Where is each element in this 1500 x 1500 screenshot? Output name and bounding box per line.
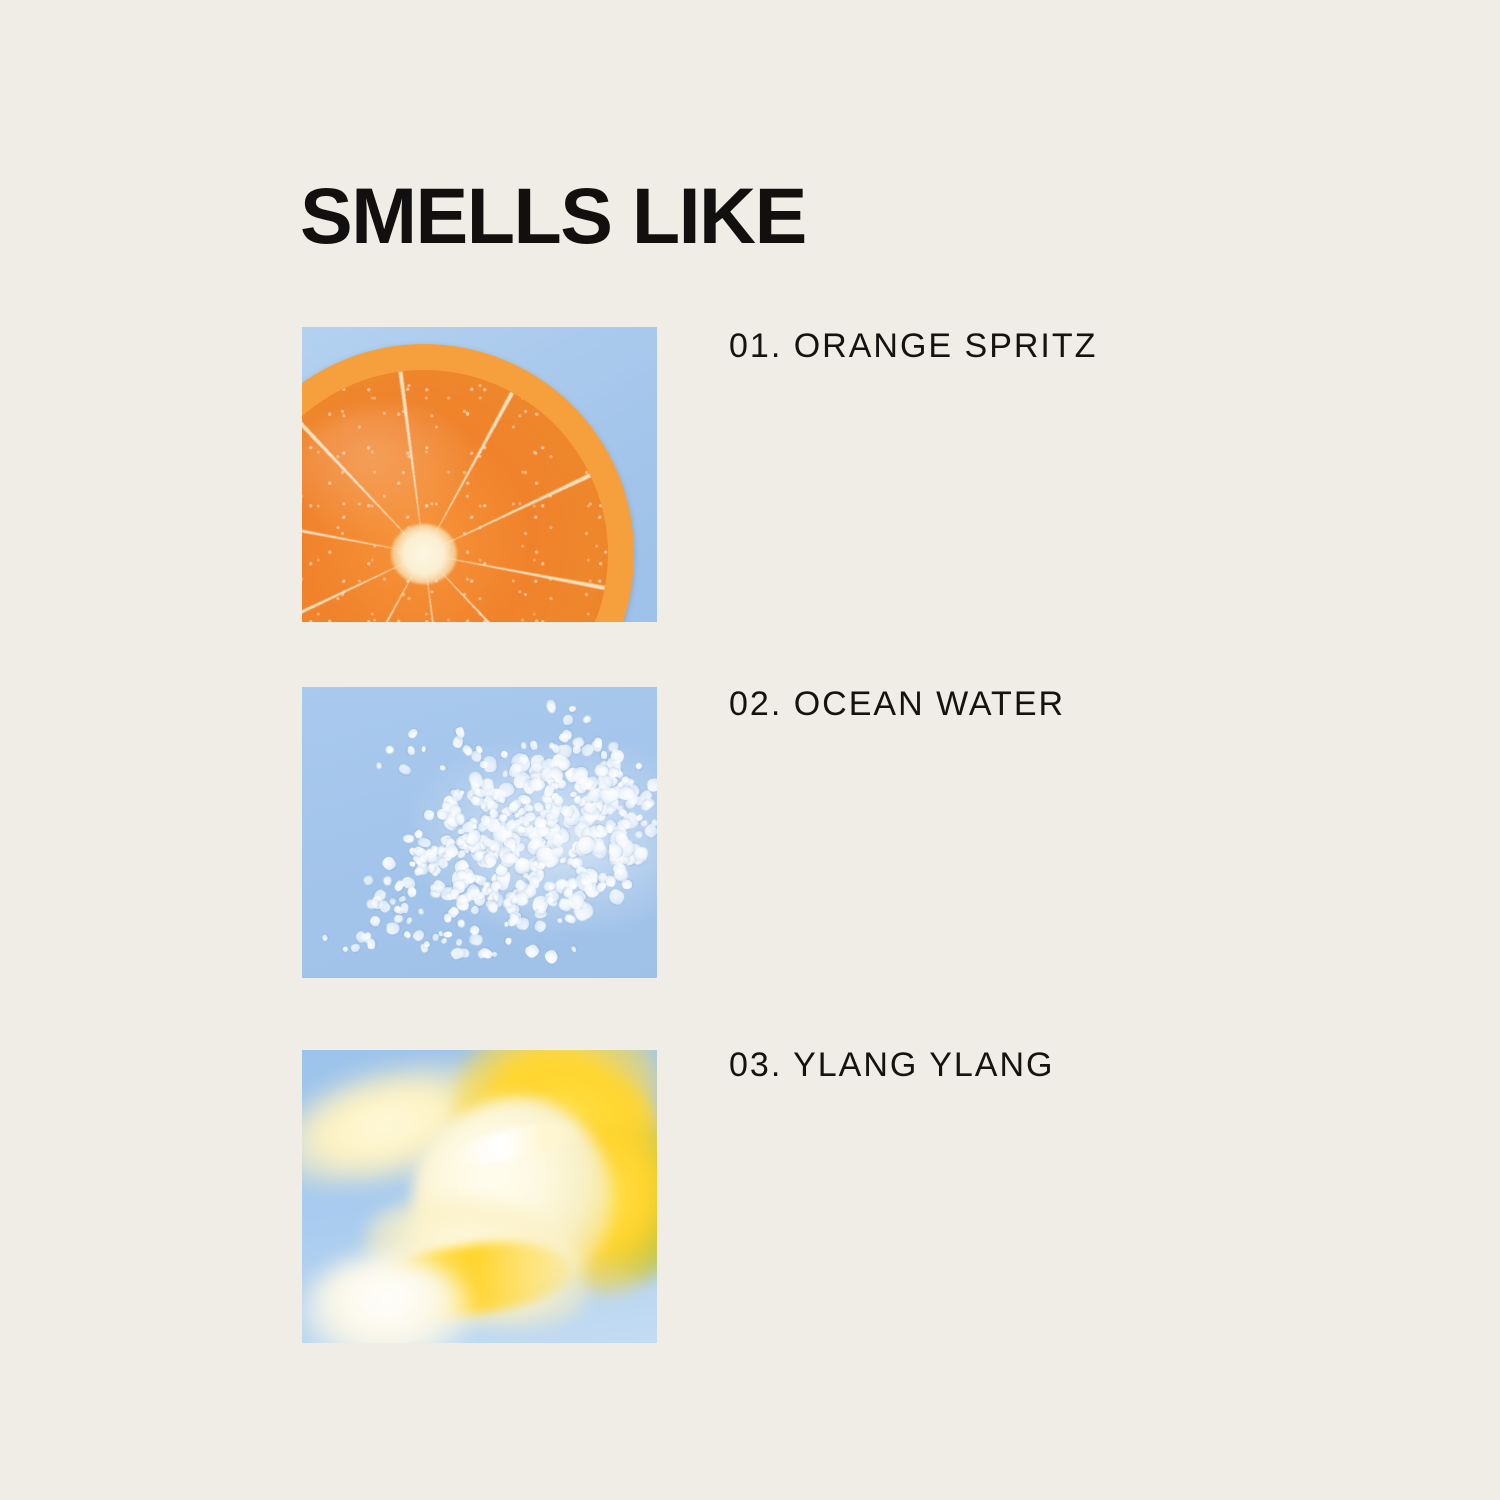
salt-crystal bbox=[483, 756, 496, 772]
salt-crystal bbox=[522, 872, 530, 879]
salt-crystal bbox=[498, 796, 505, 804]
salt-crystal bbox=[422, 746, 427, 752]
salt-crystal bbox=[398, 894, 406, 901]
page-title: SMELLS LIKE bbox=[300, 176, 806, 255]
salt-crystal bbox=[529, 877, 540, 890]
salt-crystal bbox=[537, 869, 543, 875]
salt-crystal bbox=[376, 762, 381, 769]
salt-crystal bbox=[368, 914, 382, 928]
note-image-ylang-ylang-flower bbox=[302, 1050, 657, 1343]
salt-crystal bbox=[381, 855, 398, 872]
salt-crystal bbox=[455, 939, 463, 947]
salt-crystal bbox=[520, 742, 526, 749]
salt-crystal bbox=[367, 899, 379, 909]
salt-crystal bbox=[469, 905, 480, 916]
salt-crystal bbox=[393, 914, 403, 923]
salt-crystal bbox=[515, 843, 526, 852]
salt-crystal bbox=[407, 745, 414, 754]
salt-crystal bbox=[386, 922, 399, 934]
salt-crystal bbox=[363, 875, 375, 887]
salt-crystal bbox=[385, 746, 394, 755]
salt-crystal bbox=[504, 921, 508, 926]
salt-crystal bbox=[524, 943, 541, 960]
salt-crystal bbox=[607, 887, 627, 907]
salt-crystal bbox=[417, 908, 423, 915]
salt-crystal bbox=[456, 919, 465, 929]
salt-crystal bbox=[406, 886, 417, 898]
salt-crystal bbox=[617, 819, 630, 830]
salt-crystal bbox=[398, 763, 412, 776]
salt-crystal bbox=[550, 782, 559, 789]
note-image-orange-slice bbox=[302, 327, 657, 622]
salt-crystal bbox=[411, 928, 425, 943]
salt-crystal bbox=[423, 809, 435, 821]
salt-crystal bbox=[491, 951, 498, 958]
note-label-ocean-water: 02. OCEAN WATER bbox=[729, 685, 1065, 724]
salt-crystal bbox=[367, 938, 376, 949]
salt-crystal bbox=[406, 917, 413, 925]
salt-crystal bbox=[601, 751, 607, 759]
salt-crystal bbox=[582, 715, 592, 724]
salt-crystal bbox=[543, 949, 560, 966]
note-image-sea-salt bbox=[302, 687, 657, 978]
note-label-ylang-ylang: 03. YLANG YLANG bbox=[729, 1046, 1054, 1085]
salt-crystal bbox=[634, 762, 643, 771]
salt-crystal bbox=[389, 898, 396, 905]
scent-notes-panel: SMELLS LIKE 01. ORANGE SPRITZ bbox=[0, 0, 1500, 1500]
salt-crystal bbox=[499, 814, 507, 822]
salt-crystal bbox=[572, 766, 588, 784]
salt-crystal bbox=[383, 876, 391, 885]
salt-crystal bbox=[573, 746, 581, 755]
salt-crystal bbox=[504, 937, 511, 944]
salt-crystal bbox=[350, 943, 360, 952]
salt-crystal bbox=[533, 919, 548, 934]
salt-crystal bbox=[439, 765, 445, 771]
note-label-orange-spritz: 01. ORANGE SPRITZ bbox=[729, 327, 1097, 366]
salt-crystal bbox=[568, 706, 575, 712]
salt-crystal bbox=[342, 946, 349, 953]
orange-slice-graphic bbox=[302, 344, 634, 622]
salt-crystal bbox=[407, 728, 419, 740]
salt-crystal bbox=[402, 930, 411, 939]
salt-crystal bbox=[403, 835, 414, 843]
salt-crystal bbox=[500, 749, 509, 758]
salt-crystal bbox=[547, 700, 557, 714]
salt-crystal bbox=[463, 847, 469, 853]
salt-crystal bbox=[574, 795, 581, 803]
salt-crystal bbox=[570, 945, 577, 952]
salt-crystal bbox=[556, 917, 562, 923]
salt-crystal bbox=[440, 937, 448, 945]
salt-crystal bbox=[443, 914, 452, 924]
salt-crystal bbox=[562, 714, 574, 726]
salt-crystal bbox=[456, 814, 464, 825]
salt-crystal bbox=[529, 740, 538, 751]
salt-crystal bbox=[321, 934, 328, 942]
salt-crystal-field bbox=[302, 687, 657, 978]
salt-crystal bbox=[634, 830, 643, 839]
salt-crystal bbox=[431, 934, 438, 942]
salt-crystal bbox=[625, 798, 636, 808]
